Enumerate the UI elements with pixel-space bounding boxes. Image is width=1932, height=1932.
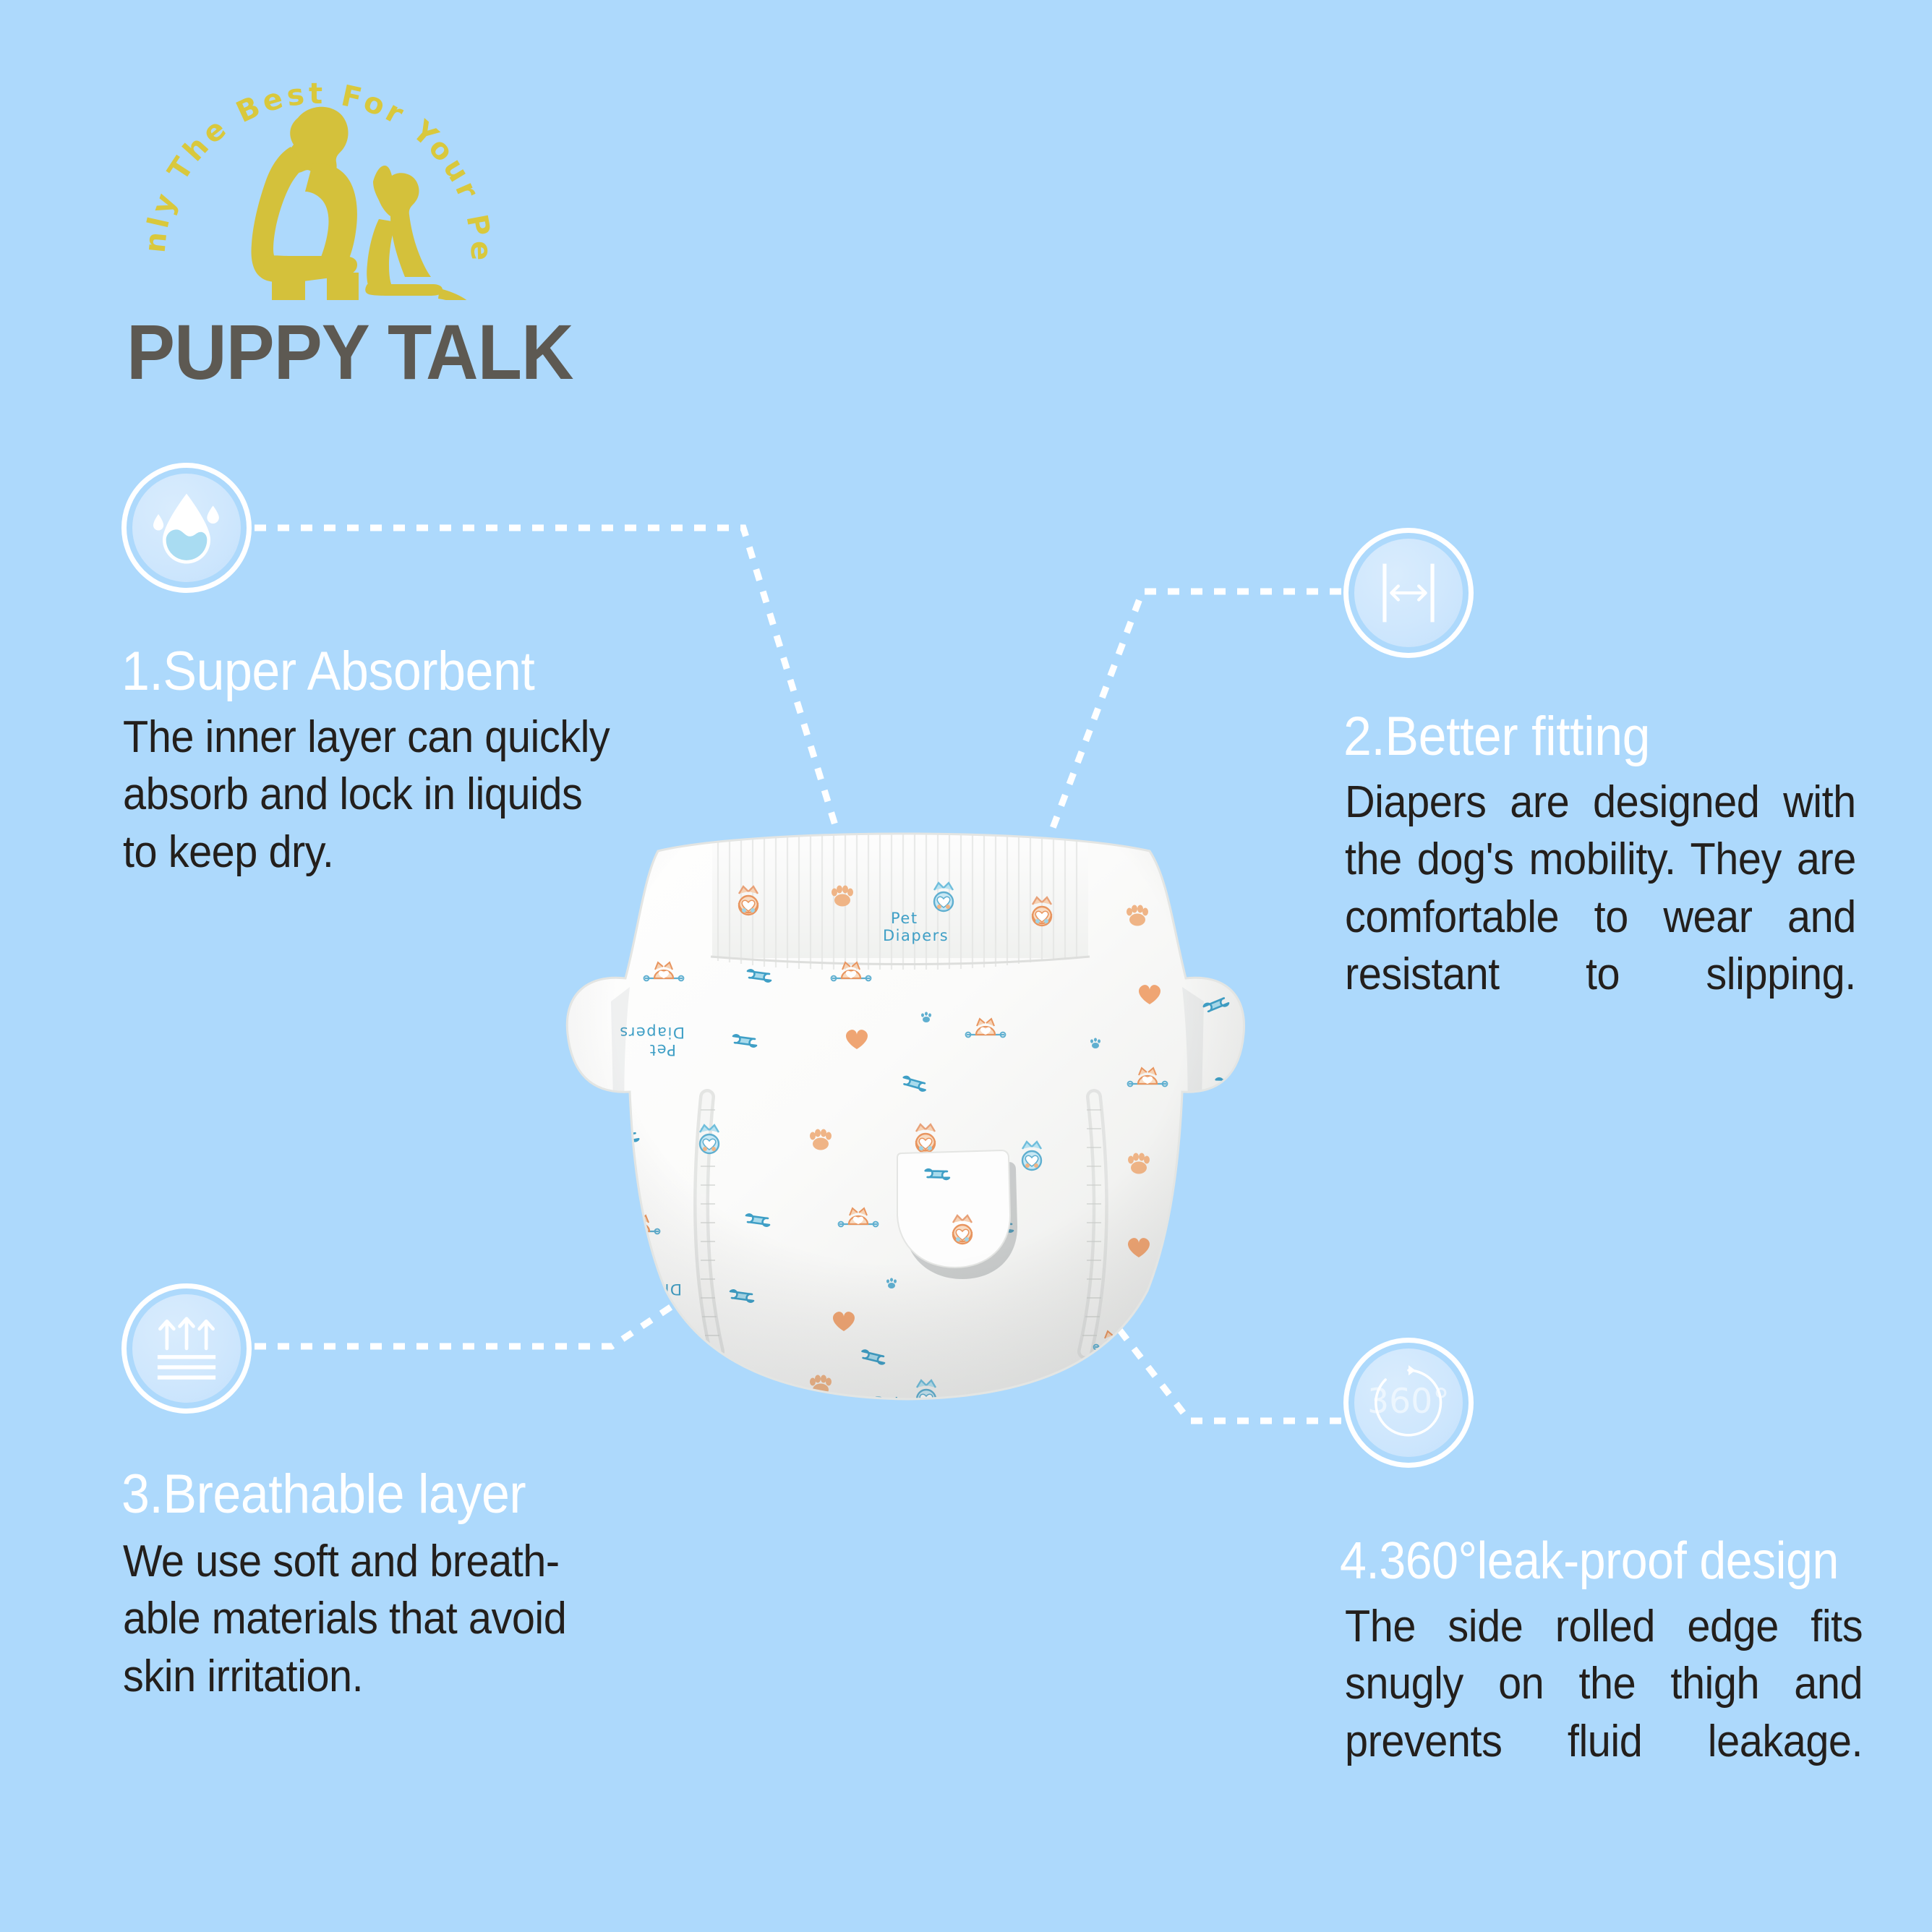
width-measure-icon bbox=[1366, 550, 1451, 636]
feature-icon-ring-1 bbox=[121, 463, 252, 593]
feature-icon-ring-2 bbox=[1343, 528, 1474, 658]
feature-body: The side rolled edge fits snugly on the … bbox=[1345, 1598, 1863, 1827]
feature-title: 1.Super Absorbent bbox=[121, 640, 534, 703]
brand-logo: Only The Best For Your Pet bbox=[108, 40, 571, 365]
feature-icon-ring-4: 360° bbox=[1343, 1338, 1474, 1468]
feature-title: 3.Breathable layer bbox=[121, 1463, 526, 1526]
feature-title: 2.Better fitting bbox=[1343, 705, 1650, 768]
water-droplet-icon bbox=[144, 485, 229, 570]
infographic-canvas: Only The Best For Your Pet bbox=[0, 0, 1932, 1932]
feature-body: The inner layer can quickly absorb and l… bbox=[123, 709, 620, 881]
svg-text:Diape: Diape bbox=[868, 1411, 918, 1429]
product-pet-diaper-image: Pet Diapers Pet Diapers Pet Diape Pet Di… bbox=[531, 785, 1269, 1435]
svg-text:Pet: Pet bbox=[646, 1298, 673, 1315]
brand-wordmark: PUPPY TALK bbox=[127, 313, 573, 391]
rotate-360-icon: 360° bbox=[1366, 1360, 1451, 1445]
feature-title: 4.360°leak-proof design bbox=[1340, 1531, 1839, 1591]
feature-body: Diapers are designed with the dog's mobi… bbox=[1345, 774, 1856, 1061]
breathable-arrows-icon bbox=[144, 1306, 229, 1391]
feature-icon-ring-3 bbox=[121, 1283, 252, 1414]
svg-text:Diapers: Diapers bbox=[1177, 1236, 1243, 1254]
person-and-dog-silhouette-icon: Only The Best For Your Pet bbox=[130, 40, 506, 300]
feature-body: We use soft and breath-able materials th… bbox=[123, 1533, 620, 1705]
svg-text:Pet: Pet bbox=[1184, 1219, 1212, 1236]
